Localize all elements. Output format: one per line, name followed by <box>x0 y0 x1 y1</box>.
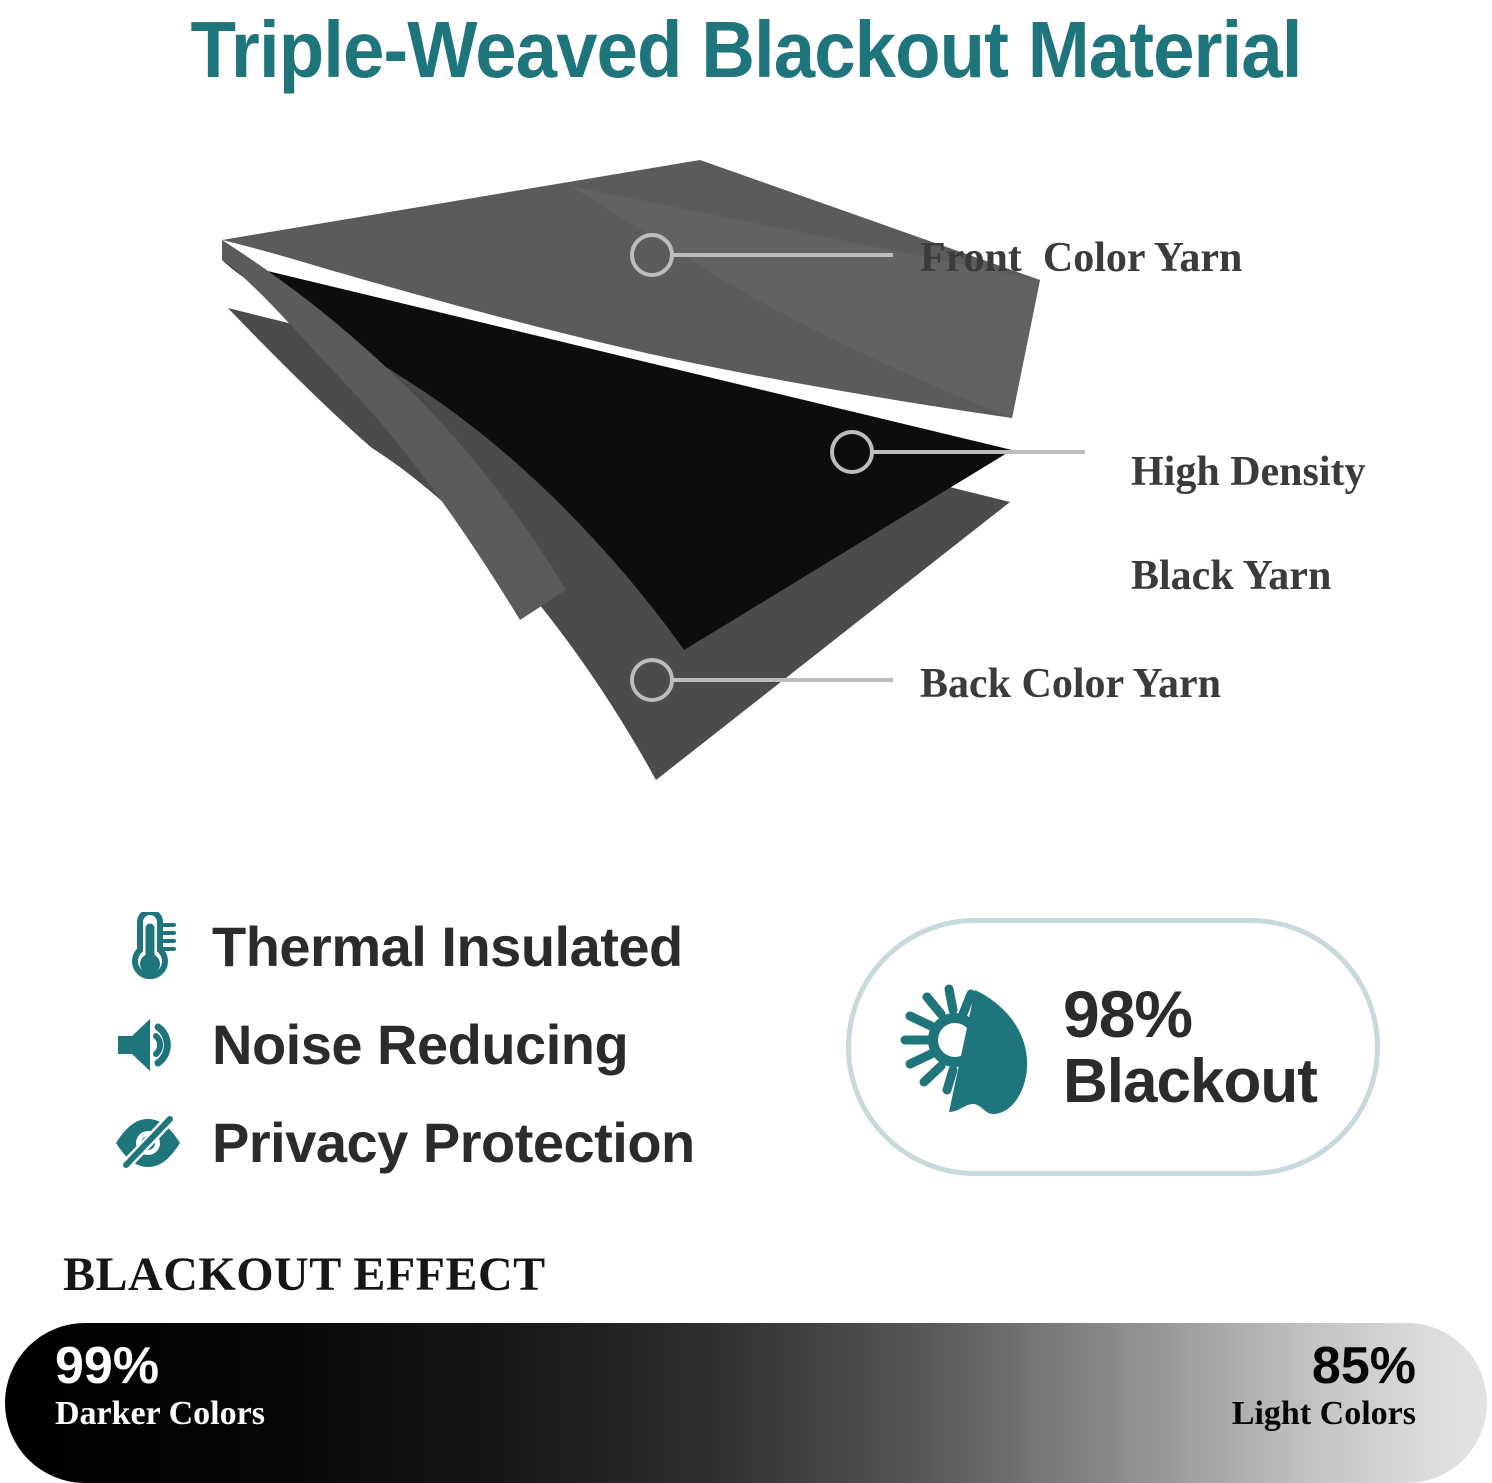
label-high-density-line2: Black Yarn <box>1131 553 1331 599</box>
badge-word: Blackout <box>1063 1049 1317 1115</box>
light-percent: 85% <box>1232 1338 1416 1394</box>
blackout-effect-darker: 99% Darker Colors <box>55 1338 265 1434</box>
darker-caption: Darker Colors <box>55 1394 265 1434</box>
label-high-density-line1: High Density <box>1131 449 1366 495</box>
feature-label: Thermal Insulated <box>212 917 683 977</box>
badge-percent: 98% <box>1063 979 1317 1049</box>
eye-slash-icon <box>112 1107 184 1179</box>
feature-noise-reducing: Noise Reducing <box>112 996 752 1094</box>
page-title: Triple-Weaved Blackout Material <box>52 2 1440 98</box>
darker-percent: 99% <box>55 1338 265 1394</box>
label-back-color-yarn: Back Color Yarn <box>920 658 1221 710</box>
sun-behind-curtain-icon <box>897 972 1037 1122</box>
light-caption: Light Colors <box>1232 1394 1416 1434</box>
feature-list: Thermal Insulated Noise Reducing Privacy… <box>112 898 752 1192</box>
speaker-sound-icon <box>112 1009 184 1081</box>
blackout-effect-heading: BLACKOUT EFFECT <box>63 1248 546 1302</box>
badge-text: 98% Blackout <box>1063 979 1317 1115</box>
label-front-color-yarn: Front Color Yarn <box>920 232 1242 284</box>
feature-privacy-protection: Privacy Protection <box>112 1094 752 1192</box>
feature-thermal-insulated: Thermal Insulated <box>112 898 752 996</box>
feature-label: Noise Reducing <box>212 1015 628 1075</box>
blackout-effect-light: 85% Light Colors <box>1232 1338 1416 1434</box>
thermometer-icon <box>112 911 184 983</box>
blackout-badge: 98% Blackout <box>846 918 1380 1176</box>
feature-label: Privacy Protection <box>212 1113 695 1173</box>
label-high-density-black-yarn: High Density Black Yarn <box>1110 394 1366 602</box>
